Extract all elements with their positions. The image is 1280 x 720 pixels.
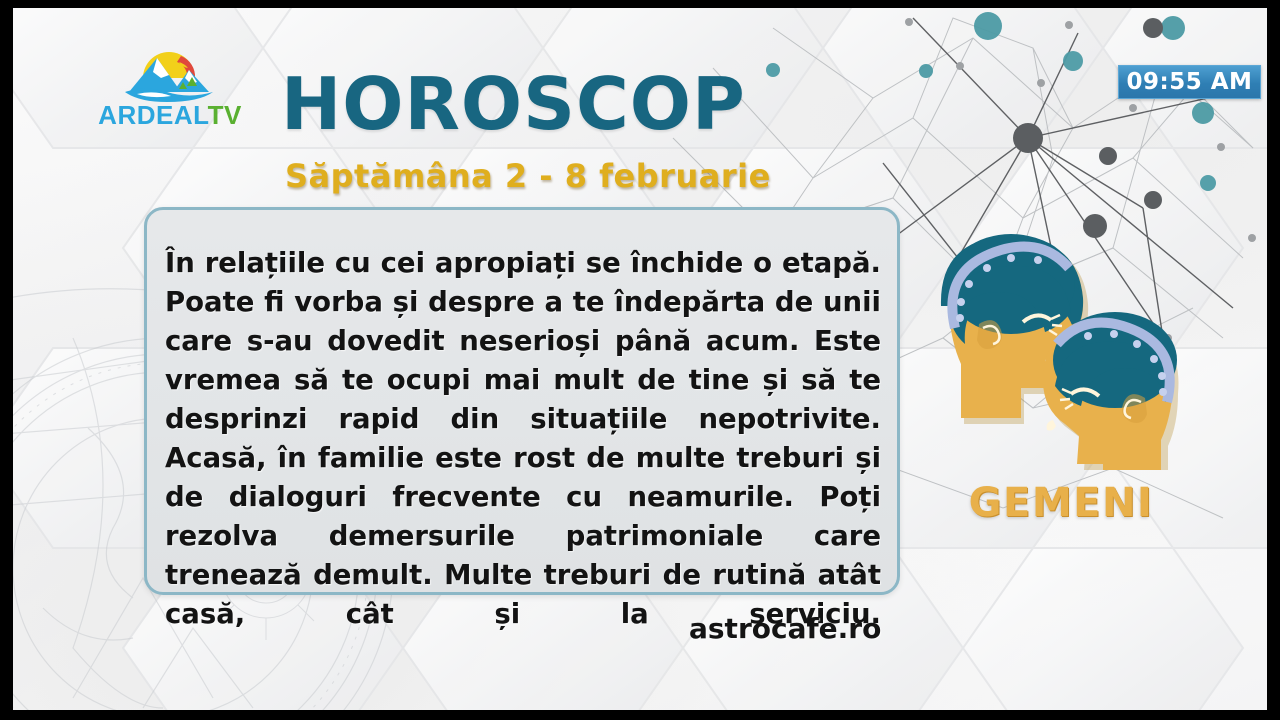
page-title: HOROSCOP [281, 68, 746, 140]
horoscope-body-text: În relațiile cu cei apropiați se închide… [165, 244, 881, 673]
source-credit: astrocafe.ro [689, 612, 881, 645]
sun-mountain-logo-icon [123, 44, 215, 104]
clock-badge: 09:55 AM [1118, 65, 1261, 99]
zodiac-sign-label: GEMENI [911, 480, 1211, 526]
channel-name-secondary: TV [208, 100, 242, 130]
gemini-twin-heads-icon [911, 220, 1211, 470]
channel-logo-wordmark: ARDEALTV [85, 102, 255, 128]
video-frame: ARDEALTV HOROSCOP Săptămâna 2 - 8 februa… [13, 8, 1267, 710]
tv-broadcast-screen: ARDEALTV HOROSCOP Săptămâna 2 - 8 februa… [0, 0, 1280, 720]
channel-logo: ARDEALTV [85, 44, 255, 144]
horoscope-panel: În relațiile cu cei apropiați se închide… [144, 207, 900, 595]
channel-name-primary: ARDEAL [98, 100, 207, 130]
page-subtitle: Săptămâna 2 - 8 februarie [285, 160, 771, 192]
